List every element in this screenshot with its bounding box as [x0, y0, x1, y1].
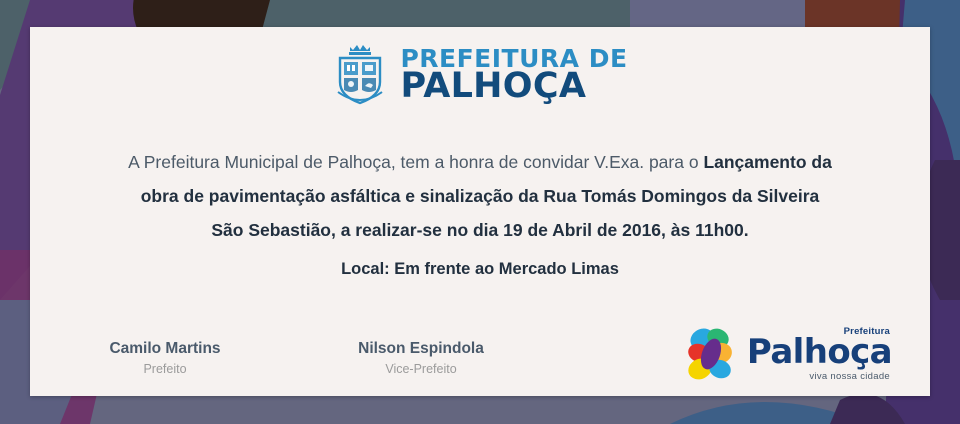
signature-role: Prefeito	[85, 360, 245, 378]
invitation-line-1-prefix: A Prefeitura Municipal de Palhoça, tem a…	[128, 152, 703, 172]
signature-name: Camilo Martins	[85, 339, 245, 359]
invitation-line-1-strong: Lançamento da	[703, 152, 831, 172]
invitation-line-3-strong: São Sebastião, a realizar-se no dia 19 d…	[211, 220, 748, 240]
signature-vice-prefeito: Nilson Espindola Vice-Prefeito	[341, 339, 501, 378]
signature-prefeito: Camilo Martins Prefeito	[85, 339, 245, 378]
invitation-line-2: obra de pavimentação asfáltica e sinaliz…	[70, 179, 890, 213]
palhoca-colorful-butterfly-logo-icon	[685, 326, 739, 382]
invitation-location: Local: Em frente ao Mercado Limas	[70, 255, 890, 283]
invitation-stage: PREFEITURA DE PALHOÇA A Prefeitura Munic…	[0, 0, 960, 424]
brand-tagline: viva nossa cidade	[809, 372, 890, 382]
invitation-line-1: A Prefeitura Municipal de Palhoça, tem a…	[70, 145, 890, 179]
invitation-line-3: São Sebastião, a realizar-se no dia 19 d…	[70, 213, 890, 247]
brand-name: Palhoça	[747, 337, 892, 368]
invitation-line-2-strong: obra de pavimentação asfáltica e sinaliz…	[141, 186, 820, 206]
prefeitura-header-logo: PREFEITURA DE PALHOÇA	[30, 44, 930, 106]
palhoca-coat-of-arms-icon	[332, 44, 388, 106]
invitation-text: A Prefeitura Municipal de Palhoça, tem a…	[70, 145, 890, 283]
brand-text: Prefeitura Palhoça viva nossa cidade	[747, 327, 892, 381]
wordmark-line-2: PALHOÇA	[400, 70, 627, 102]
invitation-card: PREFEITURA DE PALHOÇA A Prefeitura Munic…	[30, 27, 930, 396]
palhoca-brand-lockup: Prefeitura Palhoça viva nossa cidade	[685, 326, 892, 382]
signature-name: Nilson Espindola	[341, 339, 501, 359]
signature-block: Camilo Martins Prefeito Nilson Espindola…	[85, 339, 501, 378]
prefeitura-wordmark: PREFEITURA DE PALHOÇA	[400, 47, 627, 102]
signature-role: Vice-Prefeito	[341, 360, 501, 378]
